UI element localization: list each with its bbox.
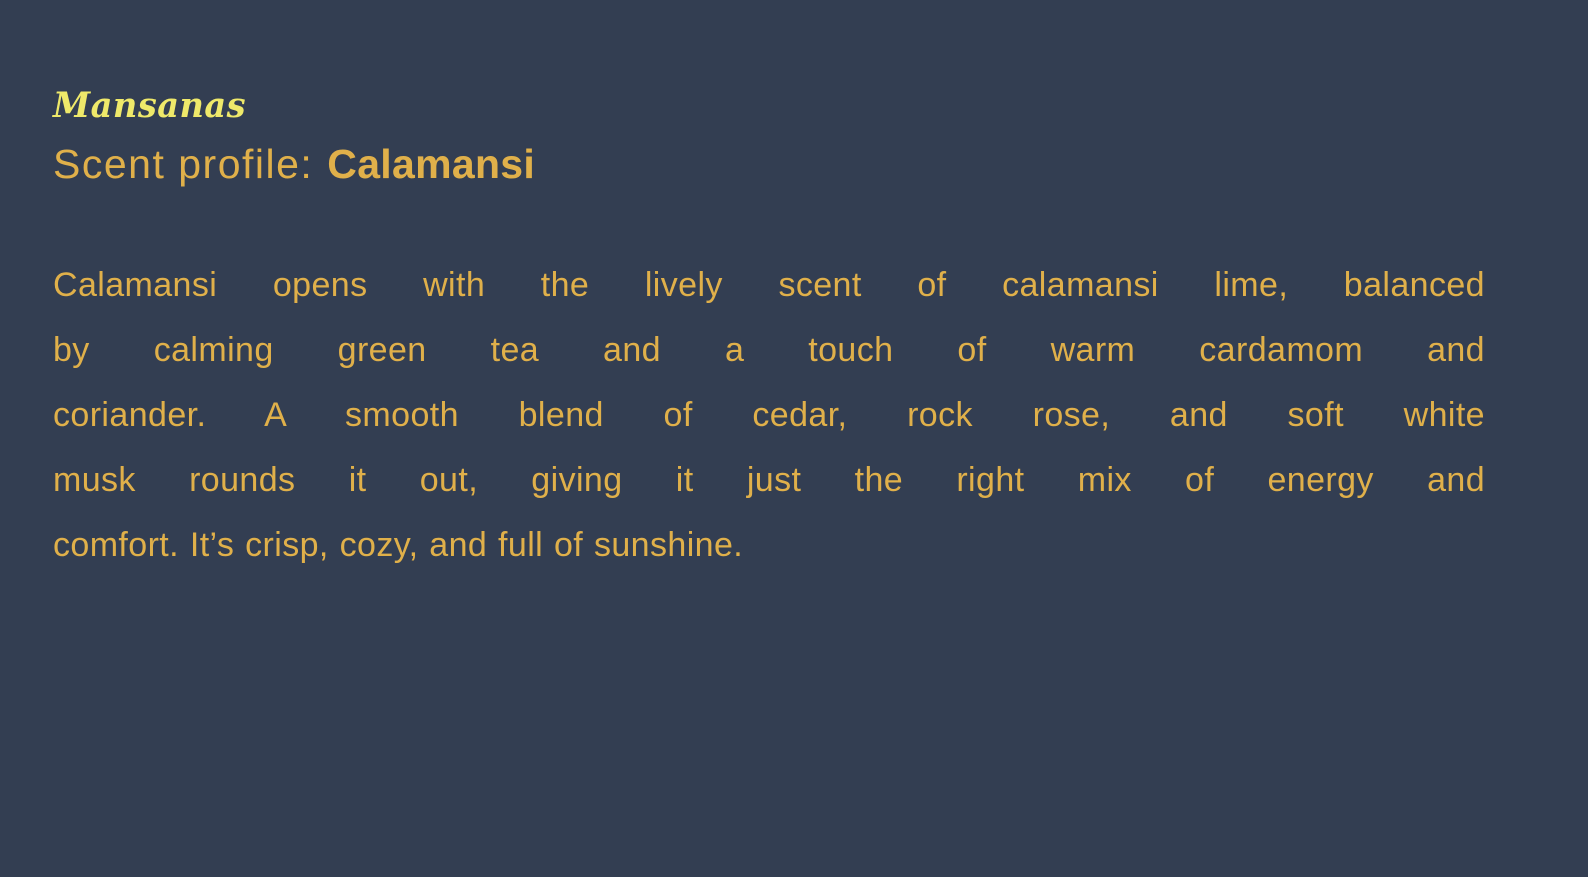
description-line: musk rounds it out, giving it just the r… [53, 448, 1485, 513]
description-paragraph: Calamansi opens with the lively scent of… [53, 191, 1485, 578]
description-line: Calamansi opens with the lively scent of… [53, 253, 1485, 318]
scent-profile-label: Scent profile: [53, 141, 313, 187]
scent-profile-line: Scent profile:Calamansi [53, 126, 1485, 191]
description-line: by calming green tea and a touch of warm… [53, 318, 1485, 383]
content-block: Mansanas Scent profile:Calamansi Calaman… [53, 86, 1485, 578]
description-line: comfort. It’s crisp, cozy, and full of s… [53, 513, 1485, 578]
scent-profile-value: Calamansi [327, 141, 535, 187]
brand-title: Mansanas [53, 86, 1428, 126]
slide-canvas: Mansanas Scent profile:Calamansi Calaman… [0, 0, 1588, 877]
description-line: coriander. A smooth blend of cedar, rock… [53, 383, 1485, 448]
